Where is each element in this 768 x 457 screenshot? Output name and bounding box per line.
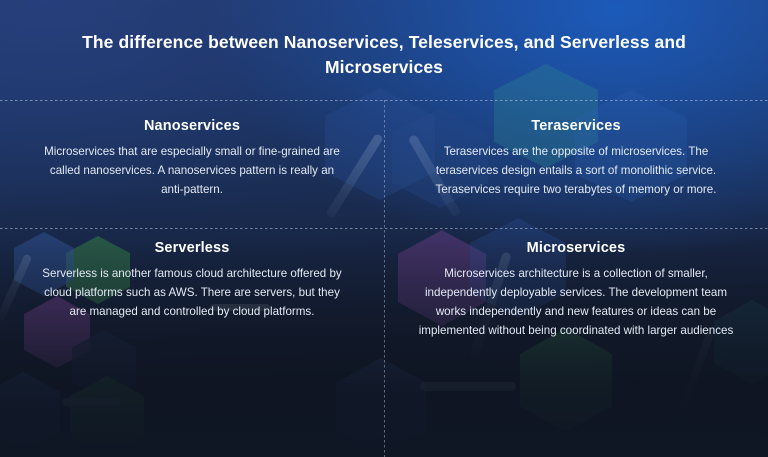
section-microservices: Microservices Microservices architecture… xyxy=(384,240,768,341)
page-title: The difference between Nanoservices, Tel… xyxy=(46,30,722,80)
section-body-teraservices: Teraservices are the opposite of microse… xyxy=(384,143,768,200)
section-body-serverless: Serverless is another famous cloud archi… xyxy=(0,265,384,322)
section-serverless: Serverless Serverless is another famous … xyxy=(0,240,384,322)
section-teraservices: Teraservices Teraservices are the opposi… xyxy=(384,118,768,200)
infographic-canvas: The difference between Nanoservices, Tel… xyxy=(0,0,768,457)
sections-grid: Nanoservices Microservices that are espe… xyxy=(0,100,768,457)
section-heading-serverless: Serverless xyxy=(0,240,384,256)
section-body-nanoservices: Microservices that are especially small … xyxy=(0,143,384,200)
section-heading-nanoservices: Nanoservices xyxy=(0,118,384,134)
section-body-microservices: Microservices architecture is a collecti… xyxy=(384,265,768,341)
section-nanoservices: Nanoservices Microservices that are espe… xyxy=(0,118,384,200)
section-heading-microservices: Microservices xyxy=(384,240,768,256)
section-heading-teraservices: Teraservices xyxy=(384,118,768,134)
